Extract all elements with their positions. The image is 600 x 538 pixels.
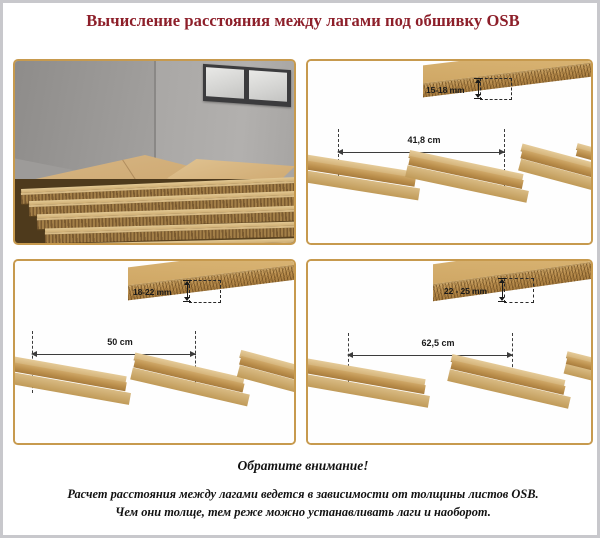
window — [203, 64, 291, 107]
span-dim-line — [349, 355, 513, 356]
thickness-label: 22 - 25 mm — [444, 286, 487, 296]
attention-heading: Обратите внимание! — [3, 458, 600, 474]
thickness-arrow-up — [184, 281, 190, 285]
thickness-dim-box — [480, 78, 512, 100]
diagram-osb-22-25mm-panel: 22 - 25 mm 62,5 cm — [306, 259, 593, 445]
thickness-arrow-up — [499, 279, 505, 283]
diagram-osb-15-18mm-panel: 15-18 mm 41,8 cm — [306, 59, 593, 245]
diagram-scene: 22 - 25 mm 62,5 cm — [308, 261, 591, 443]
thickness-arrow-down — [475, 94, 481, 98]
thickness-cap-bottom — [498, 301, 506, 302]
footer-caption-line1: Расчет расстояния между лагами ведется в… — [67, 487, 538, 501]
footer-caption-line2: Чем они толще, тем реже можно устанавлив… — [17, 503, 589, 521]
joist-array — [15, 179, 294, 243]
window-pane-right — [249, 70, 287, 102]
wall-corner — [154, 61, 156, 173]
room-render — [15, 61, 294, 243]
floor-joists-photo-panel — [13, 59, 296, 245]
diagram-scene: 15-18 mm 41,8 cm — [308, 61, 591, 243]
thickness-dim-box — [504, 278, 534, 303]
thickness-cap-bottom — [474, 98, 482, 99]
span-label: 41,8 cm — [364, 135, 484, 145]
diagram-scene: 18-22 mm 50 cm — [15, 261, 294, 443]
thickness-arrow-up — [475, 79, 481, 83]
osb-joist-spacing-infographic: Вычисление расстояния между лагами под о… — [0, 0, 600, 538]
thickness-arrow-down — [499, 297, 505, 301]
span-label: 50 cm — [45, 337, 195, 347]
page-title: Вычисление расстояния между лагами под о… — [3, 11, 600, 31]
window-pane-left — [206, 67, 244, 99]
title-text: Вычисление расстояния между лагами под о… — [86, 11, 520, 30]
thickness-arrow-down — [184, 297, 190, 301]
thickness-label: 18-22 mm — [133, 287, 171, 297]
span-label: 62,5 cm — [358, 338, 518, 348]
thickness-dim-box — [189, 280, 221, 303]
thickness-label: 15-18 mm — [426, 85, 464, 95]
diagram-osb-18-22mm-panel: 18-22 mm 50 cm — [13, 259, 296, 445]
footer-caption: Расчет расстояния между лагами ведется в… — [17, 485, 589, 521]
thickness-cap-bottom — [183, 301, 191, 302]
span-dim-line — [33, 354, 196, 355]
